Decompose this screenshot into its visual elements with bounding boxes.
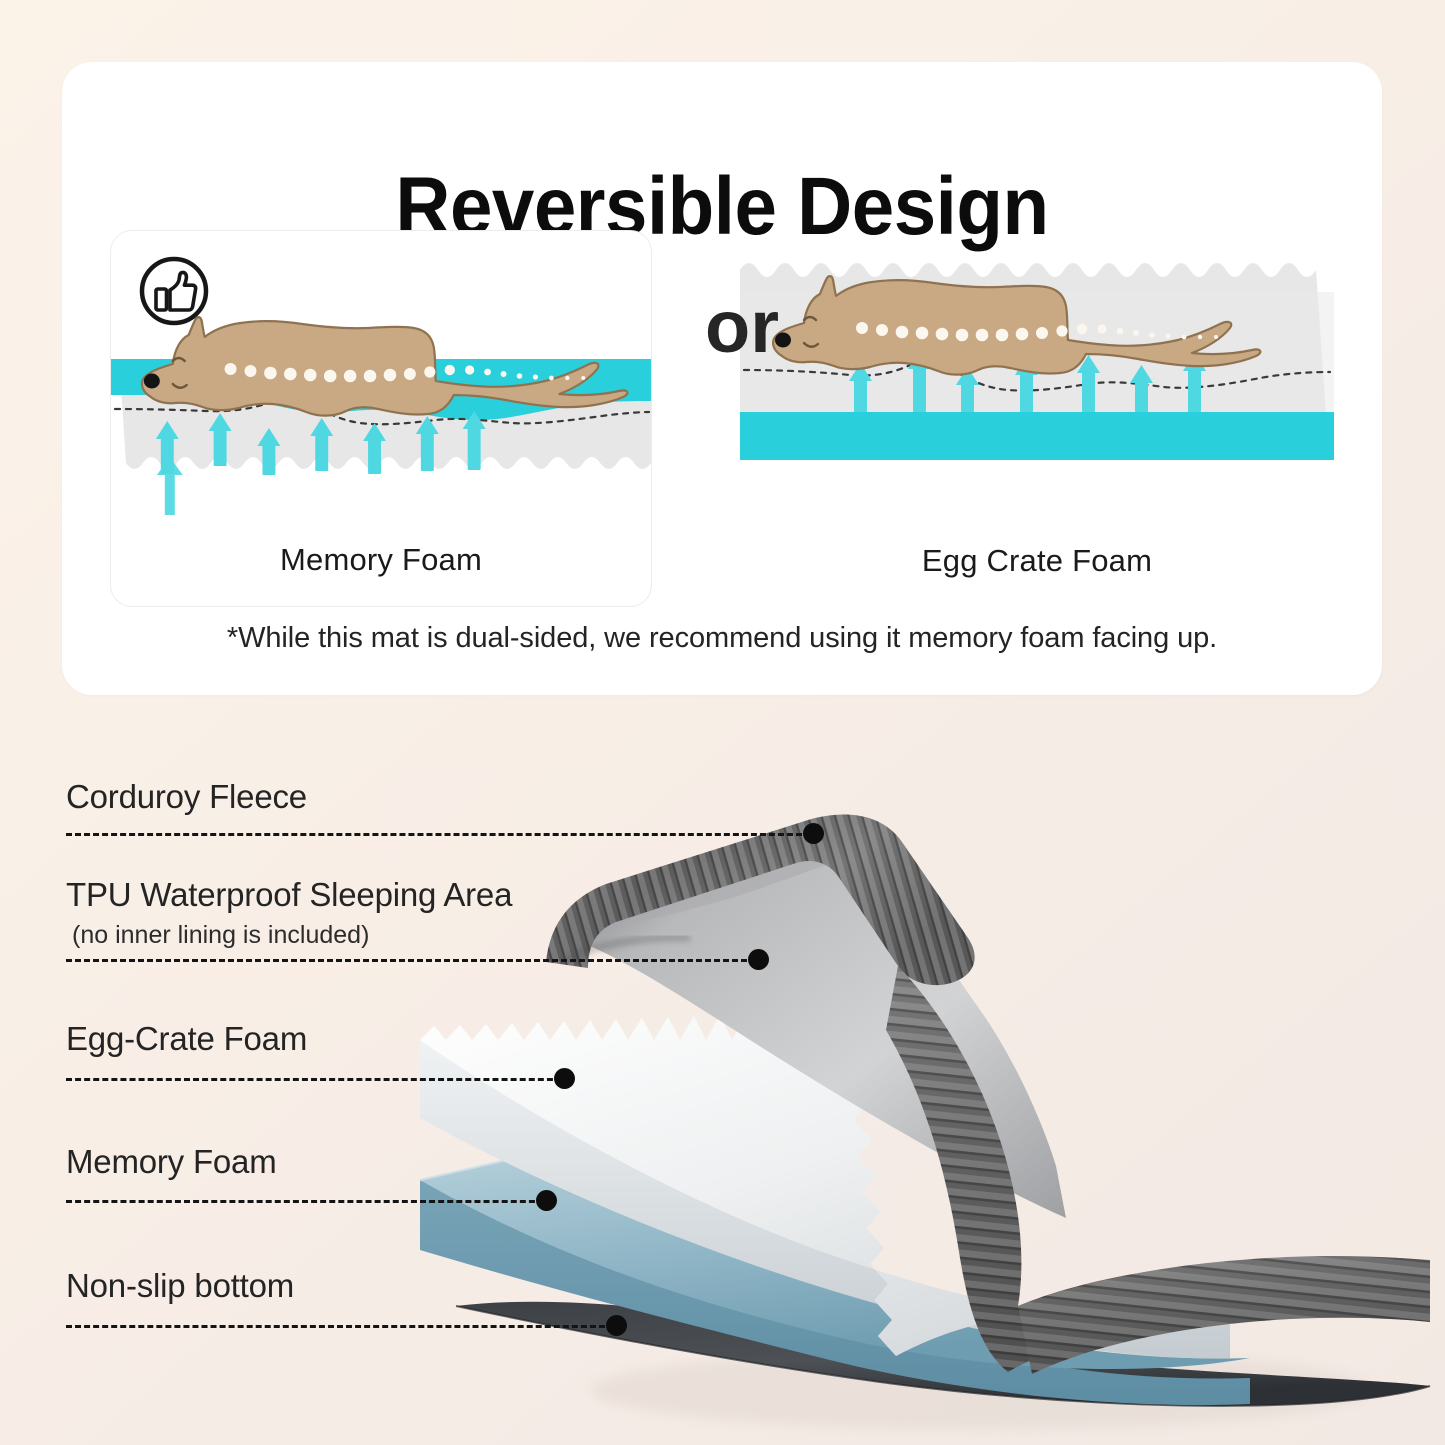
spec-label-corduroy-fleece: Corduroy Fleece: [66, 778, 307, 816]
panel-label-memory-foam: Memory Foam: [111, 542, 651, 578]
leader-line-egg-crate-foam: [66, 1078, 562, 1081]
disclaimer-text: *While this mat is dual-sided, we recomm…: [62, 622, 1382, 655]
spec-label-tpu-waterproof-sleeping-area: TPU Waterproof Sleeping Area: [66, 876, 512, 914]
leader-line-corduroy-fleece: [66, 833, 811, 836]
or-separator-label: or: [682, 284, 802, 369]
panel-egg-crate-foam: Egg Crate Foam: [740, 230, 1334, 607]
memory-foam-illustration: [111, 231, 651, 541]
egg-crate-foam-illustration: [740, 230, 1334, 540]
leader-dot-memory-foam: [536, 1190, 557, 1211]
leader-dot-tpu-waterproof: [748, 949, 769, 970]
spec-label-egg-crate-foam: Egg-Crate Foam: [66, 1020, 307, 1058]
leader-dot-non-slip-bottom: [606, 1315, 627, 1336]
leader-dot-egg-crate-foam: [554, 1068, 575, 1089]
reversible-design-card: Reversible Design: [62, 62, 1382, 695]
leader-dot-corduroy-fleece: [803, 823, 824, 844]
leader-line-memory-foam: [66, 1200, 544, 1203]
spec-sublabel-no-inner-lining: (no inner lining is included): [72, 921, 369, 950]
spec-label-memory-foam: Memory Foam: [66, 1143, 277, 1181]
leader-line-tpu-waterproof: [66, 959, 756, 962]
spec-label-non-slip-bottom: Non-slip bottom: [66, 1267, 294, 1305]
leader-line-non-slip-bottom: [66, 1325, 614, 1328]
panel-label-egg-crate-foam: Egg Crate Foam: [740, 543, 1334, 579]
layer-callouts-section: Corduroy Fleece TPU Waterproof Sleeping …: [0, 700, 1445, 1445]
panel-memory-foam: Memory Foam: [110, 230, 652, 607]
